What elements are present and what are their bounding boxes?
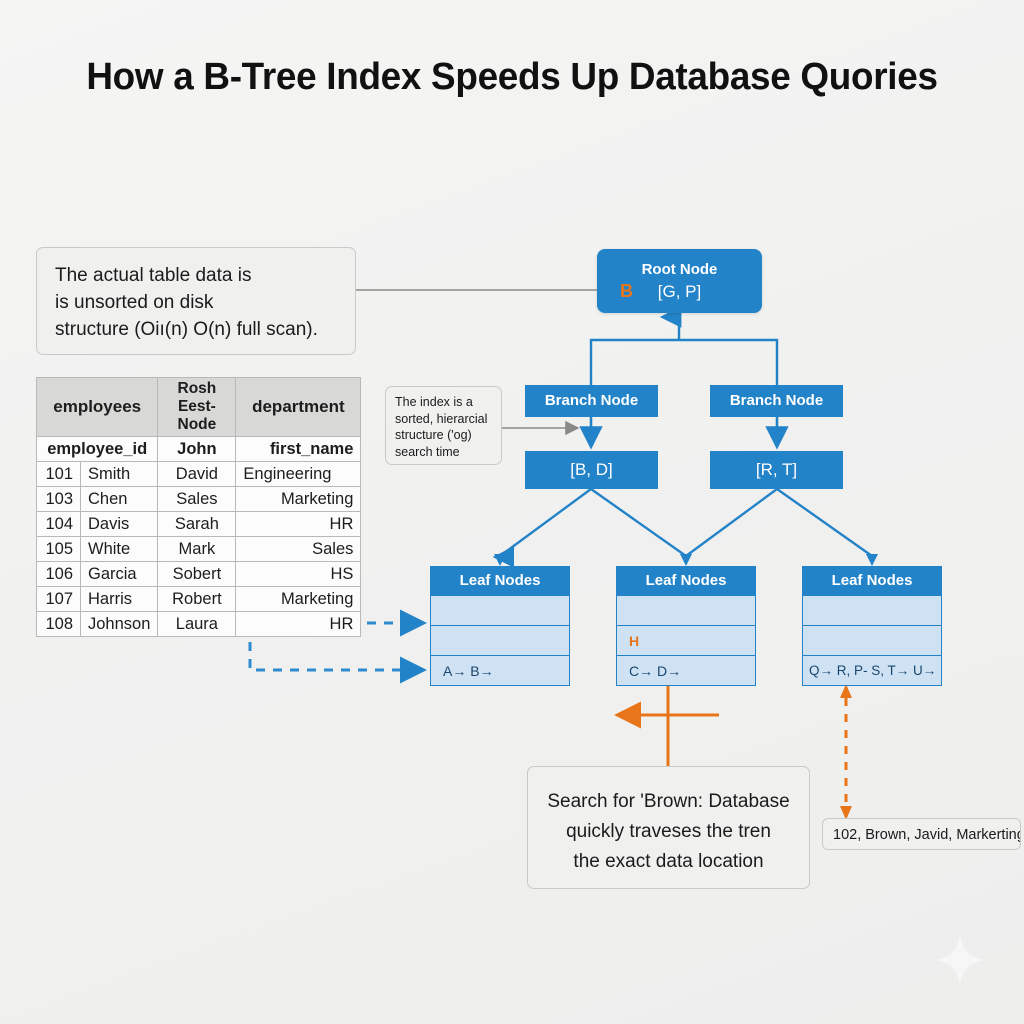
header-line-1: Rosh — [165, 380, 228, 398]
connector-branch-left-to-root — [591, 340, 679, 385]
callout-search-line-2: quickly traveses the tren — [538, 817, 799, 847]
connector-bd-to-leaf1 — [500, 489, 591, 556]
callout-table-note: The actual table data is is unsorted on … — [36, 247, 356, 355]
table-subheader-employee-id: employee_id — [37, 437, 158, 462]
cell-dept: Marketing — [236, 487, 361, 512]
cell-last: Davis — [81, 512, 158, 537]
cell-last: Johnson — [81, 612, 158, 637]
leaf-arrowheads — [494, 554, 878, 566]
cell-id: 101 — [37, 462, 81, 487]
root-node-marker-b: B — [620, 281, 633, 302]
table-row: 108 Johnson Laura HR — [37, 612, 361, 637]
cell-last: White — [81, 537, 158, 562]
leaf-node-2-cell-1 — [616, 596, 756, 626]
leaf-node-1-label: Leaf Nodes — [430, 566, 570, 596]
cell-id: 105 — [37, 537, 81, 562]
callout-table-line-2: is unsorted on disk — [55, 289, 355, 316]
table-header-employees: employees — [37, 378, 158, 437]
leaf-node-2-label: Leaf Nodes — [616, 566, 756, 596]
table-row: 103 Chen Sales Marketing — [37, 487, 361, 512]
callout-search-line-3: the exact data location — [538, 847, 799, 877]
table-row: 105 White Mark Sales — [37, 537, 361, 562]
table-row: 104 Davis Sarah HR — [37, 512, 361, 537]
table-header-department: department — [236, 378, 361, 437]
leaf-node-2-cell-2: H — [616, 626, 756, 656]
cell-id: 106 — [37, 562, 81, 587]
callout-row-result: 102, Brown, Javid, Markerting — [822, 818, 1021, 850]
leaf-node-1: Leaf Nodes A→ B→ — [430, 566, 570, 686]
table-header-row: employees Rosh Eest- Node department — [37, 378, 361, 437]
cell-last: Chen — [81, 487, 158, 512]
callout-index-line-4: search time — [395, 444, 501, 461]
table-subheader-first-name: first_name — [236, 437, 361, 462]
table-row: 101 Smith David Engineering — [37, 462, 361, 487]
callout-index-line-3: structure ('og) — [395, 427, 501, 444]
callout-table-line-1: The actual table data is — [55, 262, 355, 289]
cell-mid: David — [158, 462, 236, 487]
cell-last: Garcia — [81, 562, 158, 587]
callout-index-line-2: sorted, hierarcial — [395, 411, 501, 428]
leaf-node-1-cell-1 — [430, 596, 570, 626]
page-title: How a B-Tree Index Speeds Up Database Qu… — [15, 56, 1008, 99]
leaf-node-3-cell-3: Q→ R, P- S, T→ U→ — [802, 656, 942, 686]
callout-search-line-1: Search for 'Brown: Database — [538, 787, 799, 817]
table-row: 106 Garcia Sobert HS — [37, 562, 361, 587]
callout-search-note: Search for 'Brown: Database quickly trav… — [527, 766, 810, 889]
cell-mid: Sobert — [158, 562, 236, 587]
table-subheader-row: employee_id John first_name — [37, 437, 361, 462]
cell-last: Smith — [81, 462, 158, 487]
branch-node-left-label: Branch Node — [525, 385, 658, 417]
table-header-rosh-eest-node: Rosh Eest- Node — [158, 378, 236, 437]
branch-node-left-keys: [B, D] — [525, 451, 658, 489]
employees-table: employees Rosh Eest- Node department emp… — [36, 377, 361, 637]
table-subheader-john: John — [158, 437, 236, 462]
cell-last: Harris — [81, 587, 158, 612]
cell-dept: HS — [236, 562, 361, 587]
leaf-node-1-cell-2 — [430, 626, 570, 656]
cell-mid: Sarah — [158, 512, 236, 537]
cell-id: 104 — [37, 512, 81, 537]
cell-mid: Robert — [158, 587, 236, 612]
cell-dept: HR — [236, 612, 361, 637]
connector-rt-to-leaf2 — [686, 489, 777, 556]
cell-dept: HR — [236, 512, 361, 537]
leaf-node-3: Leaf Nodes Q→ R, P- S, T→ U→ — [802, 566, 942, 686]
leaf-node-3-cell-1 — [802, 596, 942, 626]
connector-rt-to-leaf3 — [777, 489, 872, 556]
branch-node-right-keys: [R, T] — [710, 451, 843, 489]
diagram-canvas: How a B-Tree Index Speeds Up Database Qu… — [0, 0, 1024, 1024]
callout-index-note: The index is a sorted, hierarcial struct… — [385, 386, 502, 465]
cell-mid: Sales — [158, 487, 236, 512]
cell-mid: Mark — [158, 537, 236, 562]
cell-dept: Sales — [236, 537, 361, 562]
header-line-3: Node — [165, 416, 228, 434]
callout-table-line-3: structure (Oiı(n) O(n) full scan). — [55, 316, 355, 343]
cell-mid: Laura — [158, 612, 236, 637]
connector-bd-to-leaf2 — [591, 489, 686, 556]
cell-id: 108 — [37, 612, 81, 637]
cell-id: 107 — [37, 587, 81, 612]
cell-id: 103 — [37, 487, 81, 512]
leaf-node-3-label: Leaf Nodes — [802, 566, 942, 596]
leaf-node-2: Leaf Nodes H C→ D→ — [616, 566, 756, 686]
table-row: 107 Harris Robert Marketing — [37, 587, 361, 612]
header-line-2: Eest- — [165, 398, 228, 416]
branch-node-right-label: Branch Node — [710, 385, 843, 417]
sparkle-icon — [934, 934, 986, 986]
connector-branch-right-to-root — [679, 340, 777, 385]
callout-index-line-1: The index is a — [395, 394, 501, 411]
leaf-node-1-cell-3: A→ B→ — [430, 656, 570, 686]
root-node-label: Root Node — [597, 259, 762, 281]
leaf-node-3-cell-2 — [802, 626, 942, 656]
leaf-node-2-cell-3: C→ D→ — [616, 656, 756, 686]
orange-arrowhead-up — [840, 684, 852, 698]
cell-dept: Engineering — [236, 462, 361, 487]
cell-dept: Marketing — [236, 587, 361, 612]
